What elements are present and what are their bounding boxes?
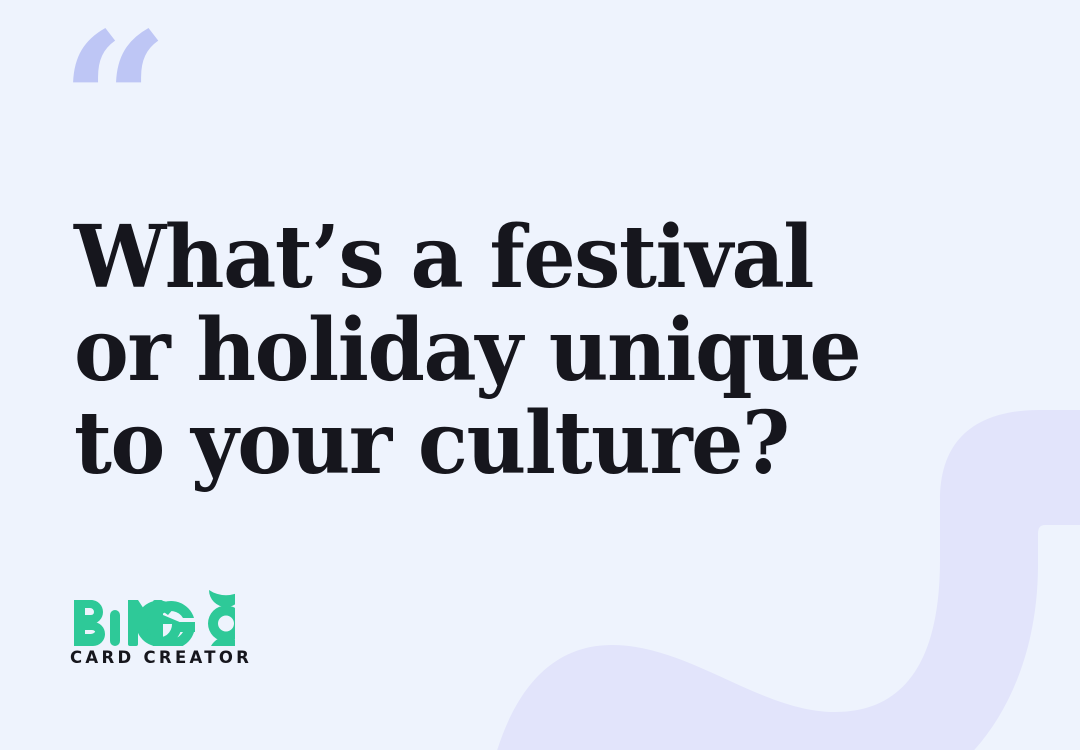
logo-letter-o bbox=[208, 606, 235, 642]
logo-o-arc-top-icon bbox=[209, 590, 235, 607]
brand-logo: CARD CREATOR bbox=[70, 588, 252, 667]
logo-letter-g-arm bbox=[180, 622, 195, 632]
quote-headline: What’s a festival or holiday unique to y… bbox=[74, 212, 914, 491]
bingo-wordmark-icon bbox=[70, 588, 235, 646]
opening-quote-icon: “ bbox=[60, 8, 165, 198]
logo-letter-i bbox=[110, 610, 120, 646]
logo-tagline: CARD CREATOR bbox=[70, 648, 252, 667]
quote-card: “ What’s a festival or holiday unique to… bbox=[0, 0, 1080, 750]
logo-o-arc-bottom-icon bbox=[209, 637, 235, 646]
